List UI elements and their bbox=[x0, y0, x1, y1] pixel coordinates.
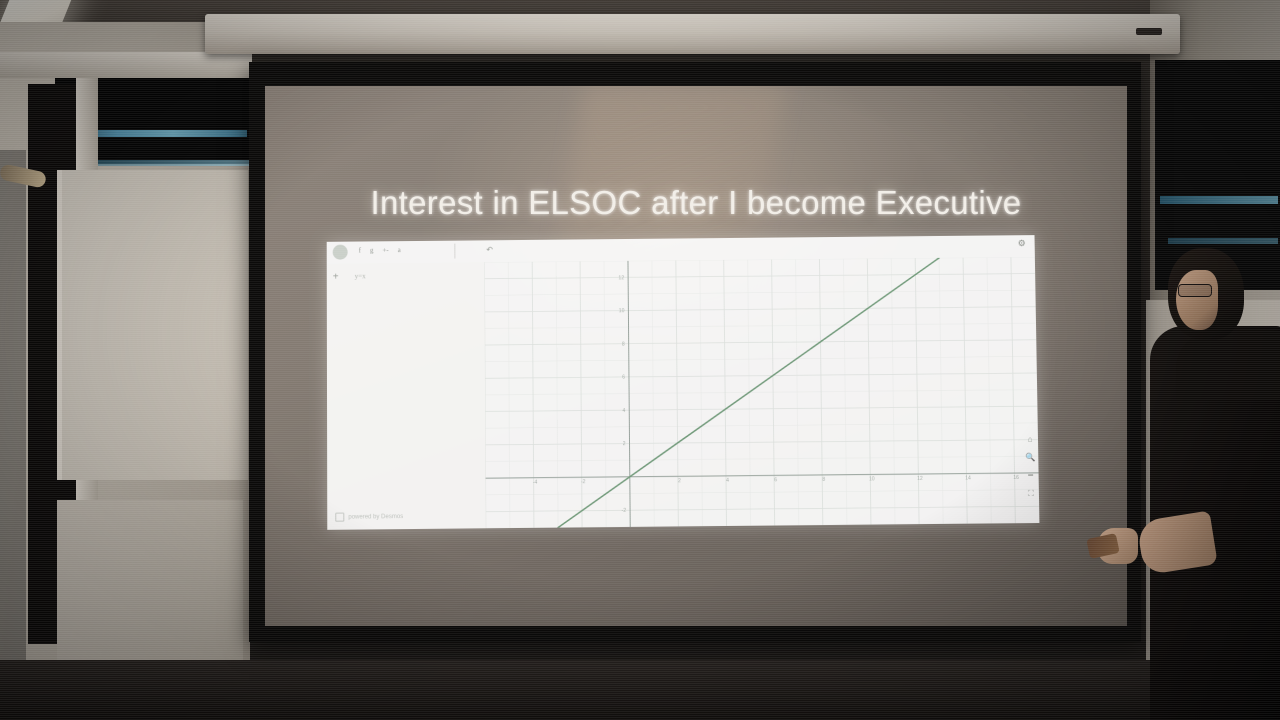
svg-text:6: 6 bbox=[622, 375, 625, 381]
fullscreen-icon[interactable]: ⛶ bbox=[1028, 489, 1034, 499]
home-icon[interactable]: ⌂ bbox=[1028, 435, 1033, 444]
gear-icon[interactable]: ⚙ bbox=[1018, 239, 1027, 248]
plus-icon[interactable]: + bbox=[333, 272, 339, 283]
desmos-expression-panel[interactable]: + y=x powered by Desmos bbox=[327, 262, 487, 530]
undo-arrow-icon[interactable]: ↶ bbox=[486, 245, 493, 254]
svg-text:-2: -2 bbox=[581, 479, 586, 485]
keypad-key-g[interactable]: g bbox=[370, 246, 374, 254]
zoom-in-icon[interactable]: 🔍 bbox=[1025, 453, 1035, 462]
presenter-face bbox=[1176, 270, 1218, 330]
keypad-key-a[interactable]: a bbox=[398, 246, 401, 254]
zoom-out-icon[interactable]: ━ bbox=[1028, 471, 1033, 480]
desmos-footer-badge[interactable]: powered by Desmos bbox=[335, 512, 403, 522]
svg-text:2: 2 bbox=[678, 478, 681, 484]
right-window-light-strip-2 bbox=[1168, 238, 1278, 244]
left-wall-shadow bbox=[0, 150, 26, 670]
left-wall-panel bbox=[57, 170, 248, 480]
svg-text:4: 4 bbox=[622, 408, 625, 414]
svg-text:10: 10 bbox=[869, 476, 875, 482]
svg-text:4: 4 bbox=[726, 478, 729, 484]
desmos-badge-icon bbox=[335, 513, 344, 522]
left-wall-panel-lower bbox=[57, 500, 243, 660]
keypad-key-f[interactable]: f bbox=[359, 247, 361, 255]
svg-text:16: 16 bbox=[1013, 475, 1019, 481]
svg-text:10: 10 bbox=[619, 308, 625, 314]
graph-zoom-controls[interactable]: ⌂ 🔍 ━ ⛶ bbox=[1025, 435, 1036, 499]
right-window-light-strip bbox=[1160, 196, 1278, 204]
desmos-logo-icon bbox=[333, 245, 348, 260]
svg-text:8: 8 bbox=[822, 477, 825, 483]
svg-text:-2: -2 bbox=[622, 508, 627, 514]
graph-svg: -4-2246810121416-224681012 bbox=[484, 257, 1039, 528]
svg-text:8: 8 bbox=[622, 342, 625, 348]
svg-text:14: 14 bbox=[965, 476, 971, 482]
left-window-light-strip-2 bbox=[90, 160, 250, 166]
expression-item-1[interactable]: y=x bbox=[355, 272, 366, 280]
toolbar-divider bbox=[454, 244, 455, 259]
presenter bbox=[1150, 248, 1280, 720]
floor bbox=[0, 660, 1280, 720]
desmos-footer-label: powered by Desmos bbox=[348, 514, 403, 521]
presenter-head bbox=[1168, 248, 1244, 340]
svg-text:12: 12 bbox=[917, 476, 923, 482]
projector-screen-surface: Interest in ELSOC after I become Executi… bbox=[265, 86, 1127, 626]
svg-text:12: 12 bbox=[619, 275, 625, 281]
slide-title: Interest in ELSOC after I become Executi… bbox=[265, 184, 1127, 222]
glasses-icon bbox=[1178, 284, 1212, 297]
keypad-key-plusminus[interactable]: +- bbox=[382, 246, 388, 254]
svg-text:6: 6 bbox=[774, 477, 777, 483]
presenter-shoulder bbox=[1176, 330, 1280, 400]
svg-text:-4: -4 bbox=[533, 480, 538, 486]
desmos-graph-canvas[interactable]: -4-2246810121416-224681012 ⌂ 🔍 ━ ⛶ bbox=[484, 257, 1039, 528]
desmos-keypad-buttons[interactable]: f g +- a bbox=[359, 246, 401, 254]
lecture-room-scene: Interest in ELSOC after I become Executi… bbox=[0, 0, 1280, 720]
left-wall-beam bbox=[0, 52, 252, 78]
projector-screen-housing bbox=[205, 14, 1180, 54]
svg-text:2: 2 bbox=[623, 441, 626, 447]
desmos-application-window: f g +- a ↶ ⚙ + y=x powered by Desmos bbox=[327, 235, 1040, 530]
housing-end-cap-icon bbox=[1136, 28, 1162, 35]
